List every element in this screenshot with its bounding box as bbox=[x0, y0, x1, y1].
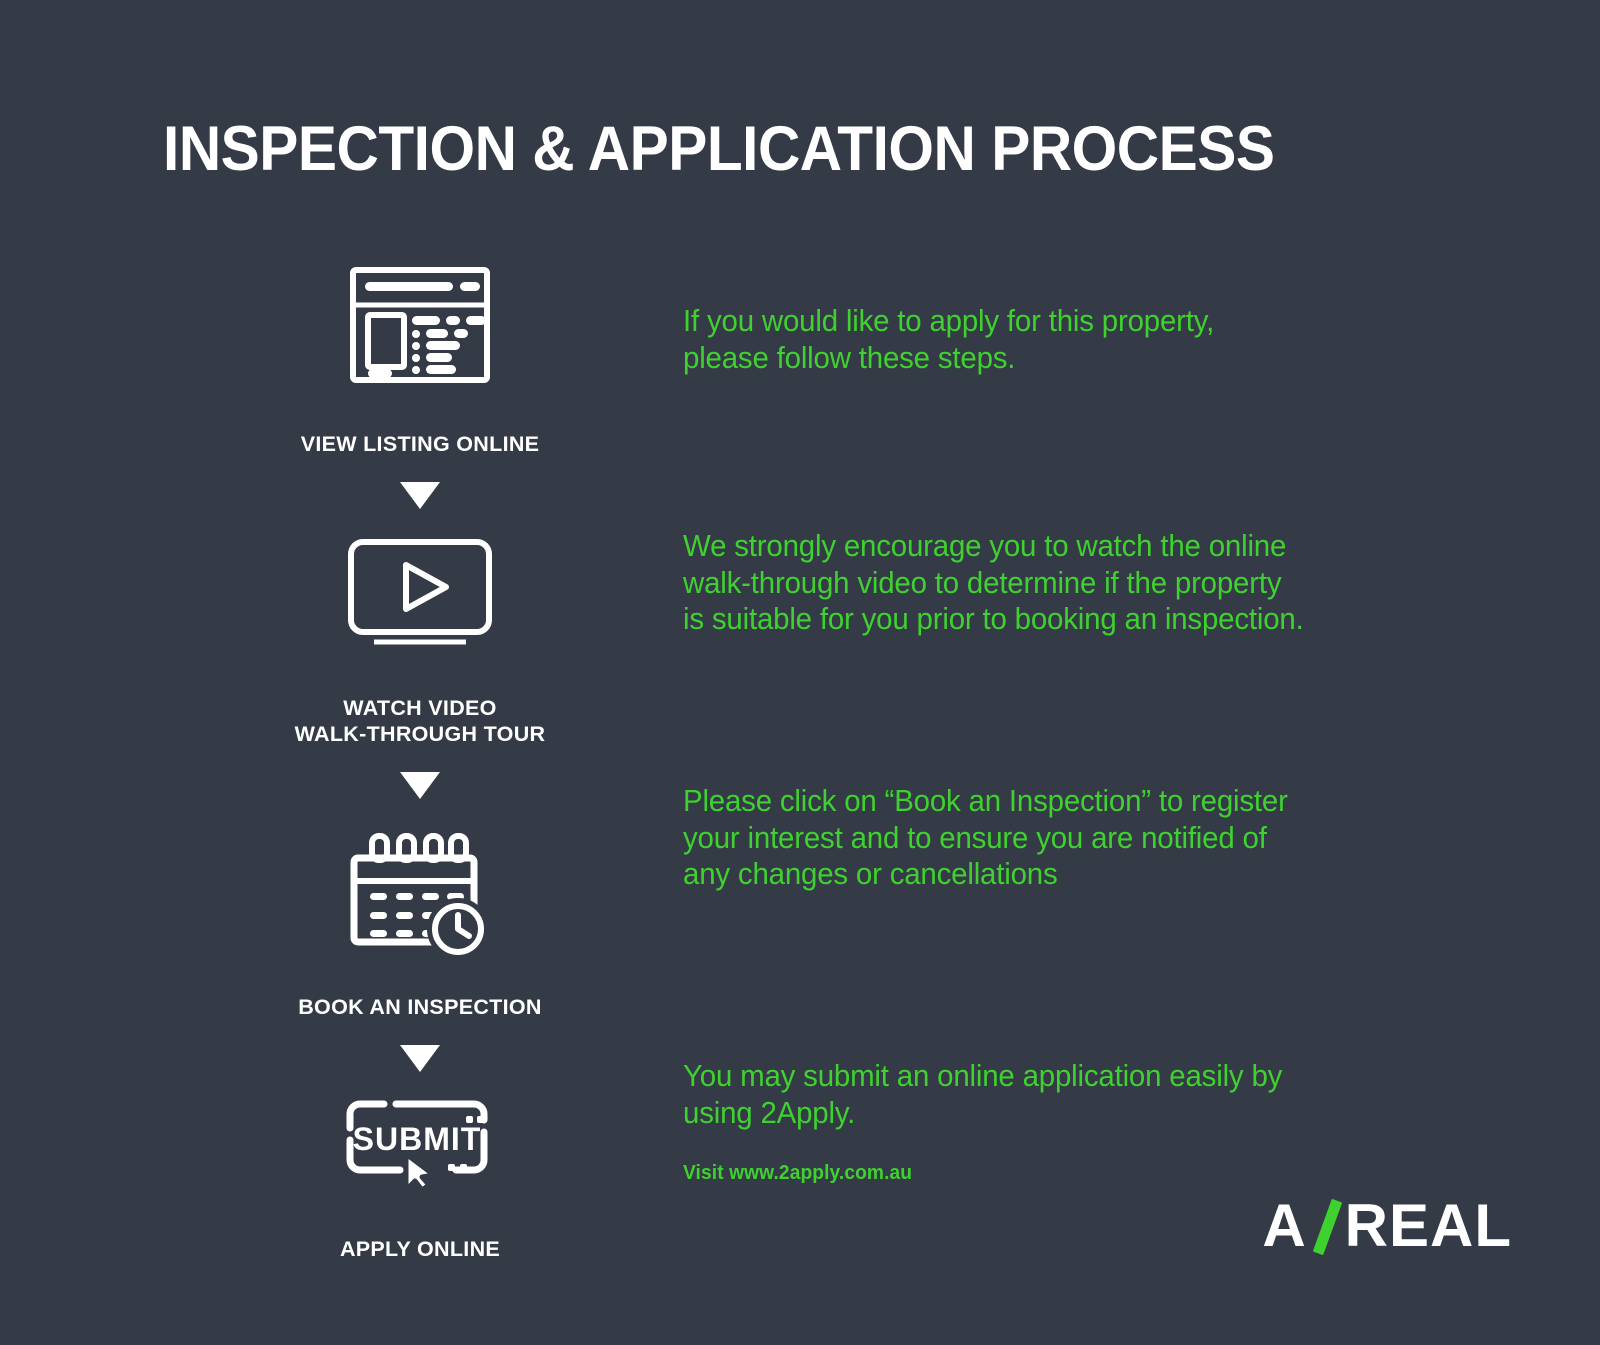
page-title: INSPECTION & APPLICATION PROCESS bbox=[163, 118, 1353, 181]
areal-logo: A REAL bbox=[1262, 1196, 1512, 1256]
down-arrow-icon-1 bbox=[270, 482, 570, 509]
submit-icon-label: SUBMIT bbox=[353, 1121, 482, 1157]
video-play-icon bbox=[346, 537, 494, 654]
logo-word-real: REAL bbox=[1345, 1196, 1512, 1256]
down-arrow-icon-2 bbox=[270, 772, 570, 799]
copy-apply-online: You may submit an online application eas… bbox=[683, 1058, 1405, 1131]
step-watch-video: WATCH VIDEO WALK-THROUGH TOUR bbox=[270, 537, 570, 747]
step-label-view-listing-online: VIEW LISTING ONLINE bbox=[301, 432, 540, 457]
logo-letter-a: A bbox=[1262, 1196, 1306, 1256]
down-arrow-icon-3 bbox=[270, 1045, 570, 1072]
copy-watch-video: We strongly encourage you to watch the o… bbox=[683, 528, 1424, 638]
copy-intro: If you would like to apply for this prop… bbox=[683, 303, 1348, 376]
step-label-book-inspection: BOOK AN INSPECTION bbox=[298, 995, 542, 1020]
visit-url-text[interactable]: Visit www.2apply.com.au bbox=[683, 1162, 912, 1185]
submit-button-cursor-icon: SUBMIT bbox=[344, 1098, 496, 1195]
step-apply-online: SUBMIT APPLY ONLINE bbox=[270, 1098, 570, 1262]
step-label-watch-video: WATCH VIDEO WALK-THROUGH TOUR bbox=[295, 696, 546, 747]
step-view-listing-online: VIEW LISTING ONLINE bbox=[270, 265, 570, 457]
listing-window-icon bbox=[348, 265, 492, 390]
step-book-inspection: BOOK AN INSPECTION bbox=[270, 825, 570, 1020]
logo-slash-icon bbox=[1309, 1197, 1343, 1255]
infographic-page: { "theme": { "background": "#343a46", "a… bbox=[0, 0, 1600, 1345]
process-flow: VIEW LISTING ONLINE WATCH VIDEO WALK-THR… bbox=[270, 265, 570, 1263]
step-label-apply-online: APPLY ONLINE bbox=[340, 1237, 500, 1262]
copy-book-inspection: Please click on “Book an Inspection” to … bbox=[683, 783, 1405, 893]
calendar-clock-icon bbox=[346, 825, 494, 965]
